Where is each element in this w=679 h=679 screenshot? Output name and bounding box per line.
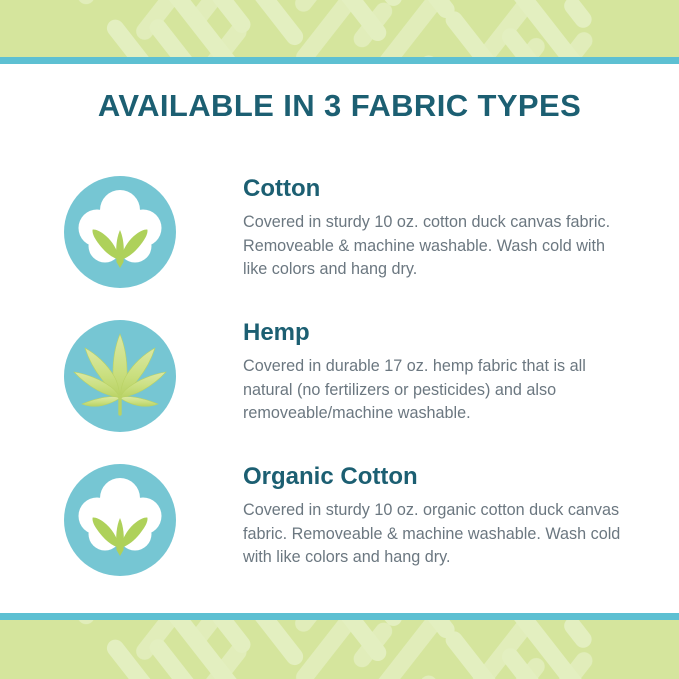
page-title: AVAILABLE IN 3 FABRIC TYPES — [0, 88, 679, 124]
top-decorative-band — [0, 0, 679, 57]
fabric-text-organic-cotton: Organic Cotton Covered in sturdy 10 oz. … — [243, 464, 623, 569]
cotton-boll-icon — [64, 176, 176, 288]
fabric-text-cotton: Cotton Covered in sturdy 10 oz. cotton d… — [243, 176, 623, 281]
fabric-heading: Hemp — [243, 320, 623, 346]
bottom-teal-rule — [0, 613, 679, 620]
cotton-boll-icon — [64, 464, 176, 576]
fabric-heading: Organic Cotton — [243, 464, 623, 490]
bottom-decorative-band — [0, 620, 679, 679]
hemp-leaf-icon — [64, 320, 176, 432]
fabric-body: Covered in sturdy 10 oz. organic cotton … — [243, 499, 623, 569]
diagonal-stripe-pattern-icon — [0, 620, 679, 679]
fabric-text-hemp: Hemp Covered in durable 17 oz. hemp fabr… — [243, 320, 623, 425]
fabric-body: Covered in sturdy 10 oz. cotton duck can… — [243, 211, 623, 281]
top-teal-rule — [0, 57, 679, 64]
diagonal-stripe-pattern-icon — [0, 0, 679, 57]
infographic-page: AVAILABLE IN 3 FABRIC TYPES — [0, 0, 679, 679]
fabric-body: Covered in durable 17 oz. hemp fabric th… — [243, 355, 623, 425]
fabric-heading: Cotton — [243, 176, 623, 202]
